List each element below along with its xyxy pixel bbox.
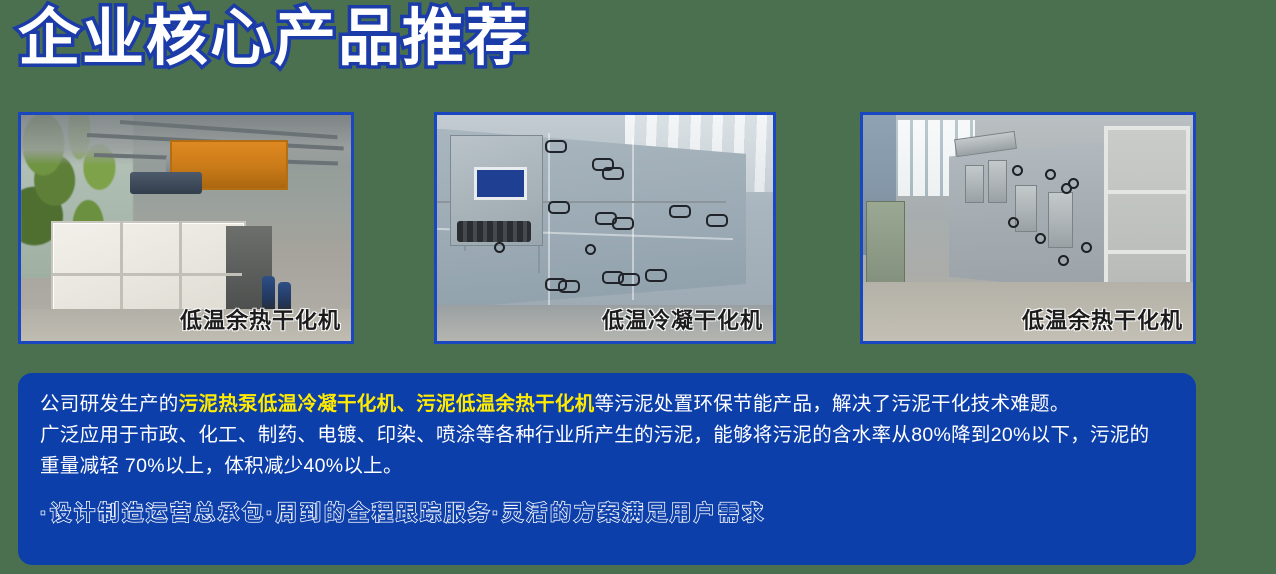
- info-paragraph-line-2: 广泛应用于市政、化工、制药、电镀、印染、喷涂等各种行业所产生的污泥，能够将污泥的…: [40, 420, 1170, 451]
- product-photo-card-3[interactable]: 低温余热干化机: [860, 112, 1196, 344]
- info-highlight-product-2: 污泥低温余热干化机: [416, 393, 594, 415]
- product-info-panel: 公司研发生产的污泥热泵低温冷凝干化机、污泥低温余热干化机等污泥处置环保节能产品，…: [18, 373, 1196, 565]
- info-paragraph-line-1: 公司研发生产的污泥热泵低温冷凝干化机、污泥低温余热干化机等污泥处置环保节能产品，…: [40, 389, 1170, 420]
- info-highlight-separator: 、: [396, 393, 416, 415]
- info-paragraph-line-3: 重量减轻 70%以上，体积减少40%以上。: [40, 451, 1170, 482]
- product-photo-caption-2: 低温冷凝干化机: [602, 303, 763, 335]
- info-text-part1: 公司研发生产的: [40, 393, 179, 415]
- info-text-part2: 等污泥处置环保节能产品，解决了污泥干化技术难题。: [594, 393, 1069, 415]
- info-service-tagline: ·设计制造运营总承包·周到的全程跟踪服务·灵活的方案满足用户需求: [40, 499, 1170, 529]
- info-highlight-product-1: 污泥热泵低温冷凝干化机: [179, 393, 397, 415]
- product-gallery: 低温余热干化机: [0, 112, 1276, 344]
- product-photo-caption-1: 低温余热干化机: [180, 303, 341, 335]
- page-title: 企业核心产品推荐: [18, 2, 530, 76]
- product-photo-card-2[interactable]: 低温冷凝干化机: [434, 112, 776, 344]
- product-photo-card-1[interactable]: 低温余热干化机: [18, 112, 354, 344]
- product-photo-caption-3: 低温余热干化机: [1022, 303, 1183, 335]
